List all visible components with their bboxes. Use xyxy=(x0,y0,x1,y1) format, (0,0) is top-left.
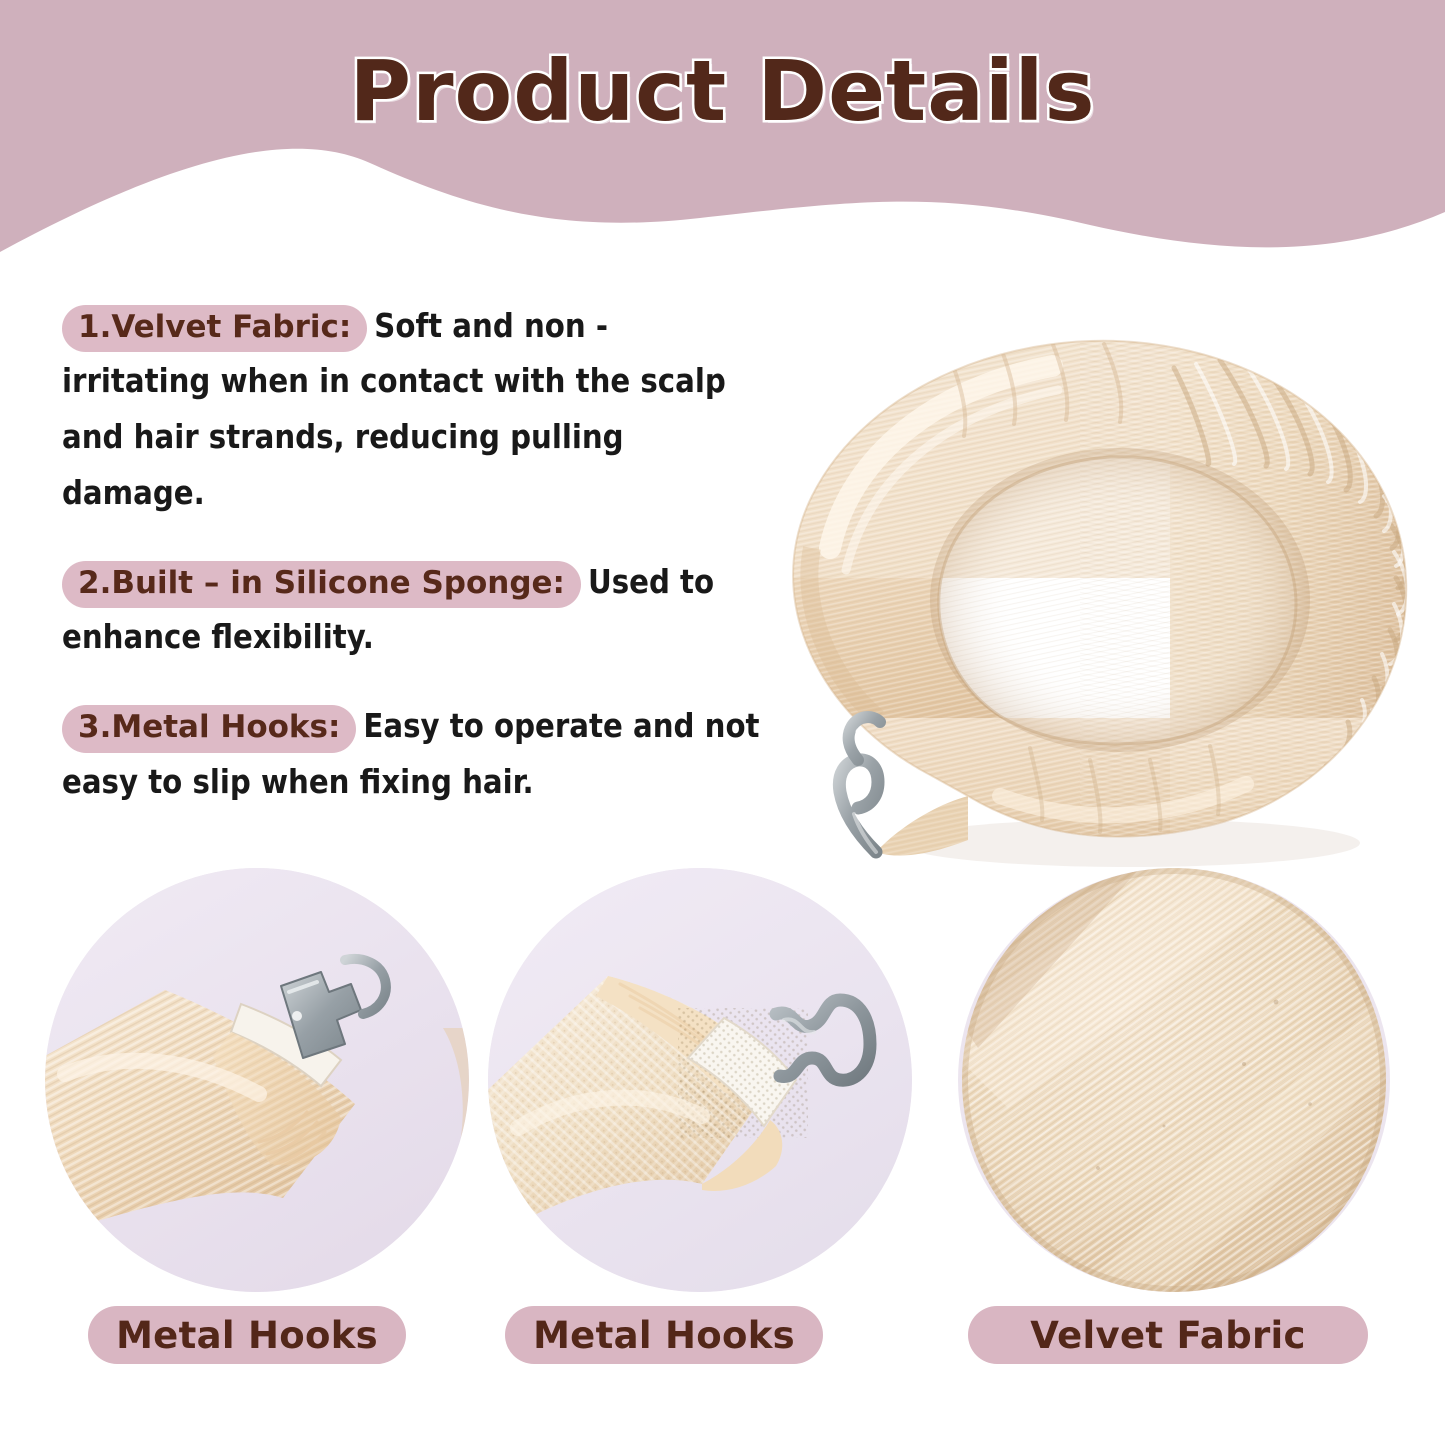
feature-list: 1.Velvet Fabric:Soft and non - irritatin… xyxy=(62,266,762,843)
page-title: Product Details xyxy=(0,42,1445,140)
detail-circle xyxy=(488,868,912,1292)
feature-paragraph: 1.Velvet Fabric:Soft and non - irritatin… xyxy=(62,299,762,523)
detail-caption-metal-hooks-1: Metal Hooks xyxy=(88,1306,406,1364)
metal-hook-closeup-1 xyxy=(45,868,469,1292)
detail-photo-velvet-fabric xyxy=(958,868,1390,1292)
detail-caption-metal-hooks-2: Metal Hooks xyxy=(505,1306,823,1364)
detail-caption-velvet-fabric: Velvet Fabric xyxy=(968,1306,1368,1364)
product-hero-image xyxy=(700,248,1445,873)
feature-item-metal-hooks: 3.Metal Hooks:Easy to operate and not ea… xyxy=(62,699,762,811)
roller-body xyxy=(700,248,1445,873)
header-banner: Product Details xyxy=(0,0,1445,270)
feature-label-pill: 1.Velvet Fabric: xyxy=(62,305,367,353)
metal-hook-closeup-2 xyxy=(488,868,912,1292)
velvet-fabric-macro xyxy=(958,868,1390,1292)
feature-paragraph: 2.Built – in Silicone Sponge:Used to enh… xyxy=(62,555,762,667)
detail-circle xyxy=(958,868,1390,1292)
feature-label-pill: 2.Built – in Silicone Sponge: xyxy=(62,561,581,609)
feature-paragraph: 3.Metal Hooks:Easy to operate and not ea… xyxy=(62,699,762,811)
detail-photo-metal-hooks-2 xyxy=(488,868,912,1292)
hair-roller-illustration xyxy=(700,248,1445,873)
detail-circle xyxy=(45,868,469,1292)
detail-photo-metal-hooks-1 xyxy=(45,868,469,1292)
feature-item-velvet-fabric: 1.Velvet Fabric:Soft and non - irritatin… xyxy=(62,299,762,523)
feature-label-pill: 3.Metal Hooks: xyxy=(62,705,356,753)
feature-item-silicone-sponge: 2.Built – in Silicone Sponge:Used to enh… xyxy=(62,555,762,667)
